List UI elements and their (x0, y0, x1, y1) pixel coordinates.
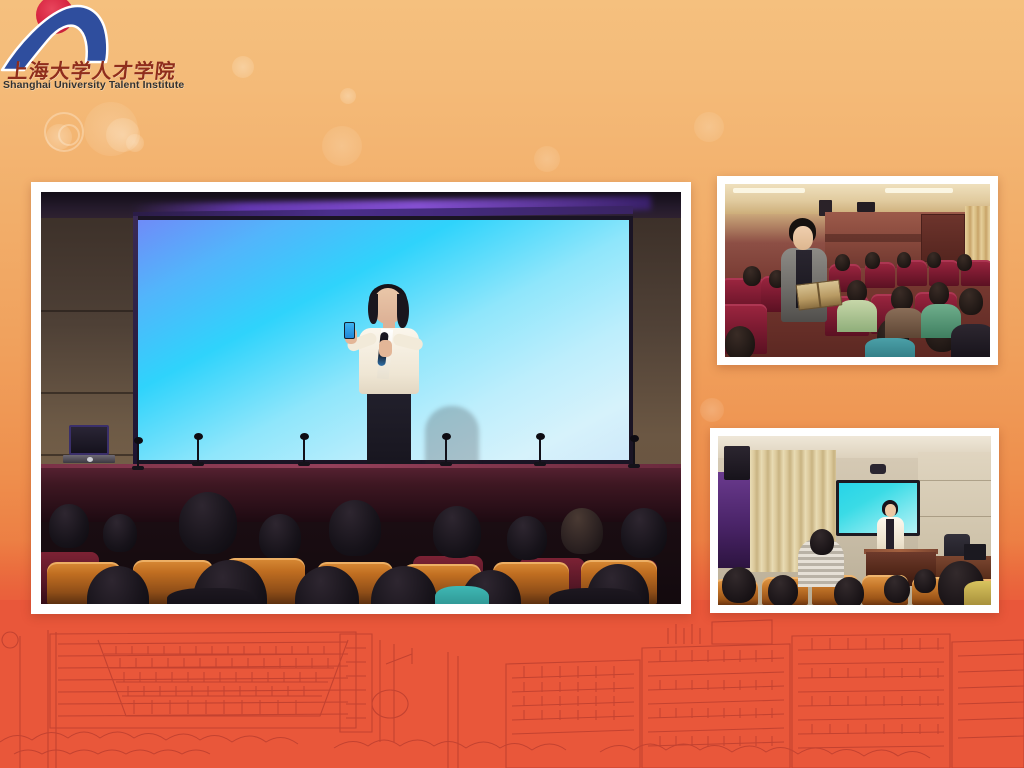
screen-ceiling-mount (870, 464, 886, 474)
speaker-right-hand (379, 340, 392, 357)
audience-head (865, 252, 880, 269)
audience-body (837, 300, 877, 332)
logo-english-name: Shanghai University Talent Institute (3, 79, 184, 91)
laptop-on-desk (63, 425, 115, 465)
audience-head (329, 500, 381, 556)
audience-body (885, 308, 923, 338)
audience-head (561, 508, 603, 554)
wall-seam (918, 516, 991, 517)
photo-student-asking-question-image (725, 184, 990, 357)
laptop-lid (69, 425, 109, 455)
photo-lecture-room-wide-image (718, 436, 991, 605)
smartphone-in-hand (344, 322, 355, 339)
audience-head (433, 506, 481, 558)
wall-speaker-icon (724, 446, 750, 480)
audience-head (810, 529, 834, 555)
audience-head (835, 254, 850, 271)
main-photo-lecture-hall[interactable] (31, 182, 691, 614)
logo: 上海大学人才学院 Shanghai University Talent Inst… (0, 0, 210, 100)
wall-seam (41, 392, 133, 394)
speaker-hair-right (397, 294, 409, 328)
audience-rows (41, 486, 681, 604)
audience-body (951, 324, 990, 357)
auditorium-seat-rows (725, 242, 990, 357)
standing-student (779, 218, 831, 357)
ceiling-light-panel (733, 188, 805, 193)
presenter-face (885, 504, 896, 517)
ceiling-speaker-icon (857, 202, 875, 212)
wall-seam (41, 310, 133, 312)
screen-left-edge (133, 216, 138, 464)
audience-head (621, 508, 667, 558)
audience-head (897, 252, 911, 268)
photo-lecture-room-wide[interactable] (710, 428, 999, 613)
audience-body (865, 338, 915, 357)
audience-head (507, 516, 547, 560)
main-photo-image (41, 192, 681, 604)
wall-seam (918, 480, 991, 481)
student-face (793, 226, 813, 250)
audience-head (179, 492, 237, 554)
speaker-hair-left (368, 294, 378, 324)
audience-head (103, 514, 137, 552)
speaker-person (341, 288, 437, 474)
audience-head (929, 282, 949, 305)
audience-head (259, 514, 301, 560)
audience-head (927, 252, 941, 268)
audience-head-front (725, 326, 755, 357)
campus-building-line-art (0, 592, 1024, 768)
audience-head (957, 254, 972, 271)
photo-student-asking-question[interactable] (717, 176, 998, 365)
audience-head-front (914, 569, 936, 593)
audience-head (959, 288, 983, 315)
ceiling-light-panel (885, 188, 953, 193)
audience-head (49, 504, 89, 548)
laptop-logo-icon (87, 457, 93, 462)
audience-head (743, 266, 761, 286)
poster-canvas: 上海大学人才学院 Shanghai University Talent Inst… (0, 0, 1024, 768)
